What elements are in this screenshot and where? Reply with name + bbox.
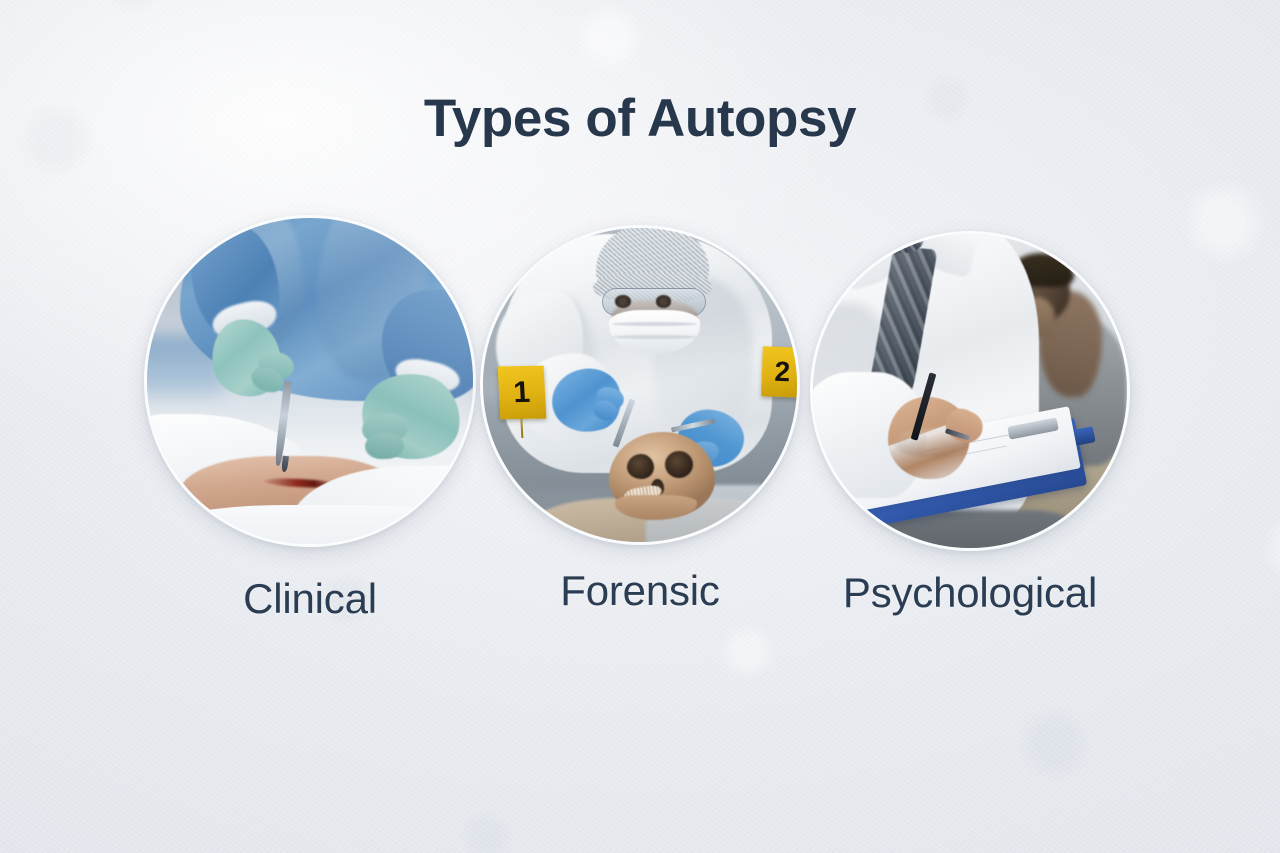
evidence-marker-1: 1: [497, 366, 545, 420]
card-label-clinical: Clinical: [243, 575, 377, 623]
clinical-autopsy-photo[interactable]: [144, 215, 476, 547]
autopsy-type-card-psychological[interactable]: Psychological: [790, 213, 1150, 617]
card-label-forensic: Forensic: [560, 567, 719, 615]
mask-pleat-lower: [612, 335, 697, 339]
slide-canvas: Types of Autopsy: [0, 0, 1280, 853]
evidence-marker-1-number: 1: [512, 376, 530, 410]
psychological-scene: [813, 234, 1127, 548]
skull-right-eye-socket: [665, 451, 693, 478]
examiner-left-eye: [615, 295, 631, 308]
autopsy-types-row: Clinical: [0, 213, 1280, 643]
skull-left-eye-socket: [627, 454, 654, 479]
autopsy-type-card-forensic[interactable]: 1 2 Forensic: [460, 213, 820, 615]
card-label-psychological: Psychological: [843, 569, 1097, 617]
autopsy-type-card-clinical[interactable]: Clinical: [130, 213, 490, 623]
clinical-scene: [147, 218, 473, 544]
psychological-autopsy-photo[interactable]: [810, 231, 1130, 551]
surgical-drape-bottom: [147, 505, 473, 544]
forensic-scene: 1 2: [483, 228, 797, 542]
examiner-right-eye: [656, 295, 672, 308]
page-title: Types of Autopsy: [0, 88, 1280, 149]
evidence-marker-2-number: 2: [775, 356, 792, 389]
forensic-autopsy-photo[interactable]: 1 2: [480, 225, 800, 545]
